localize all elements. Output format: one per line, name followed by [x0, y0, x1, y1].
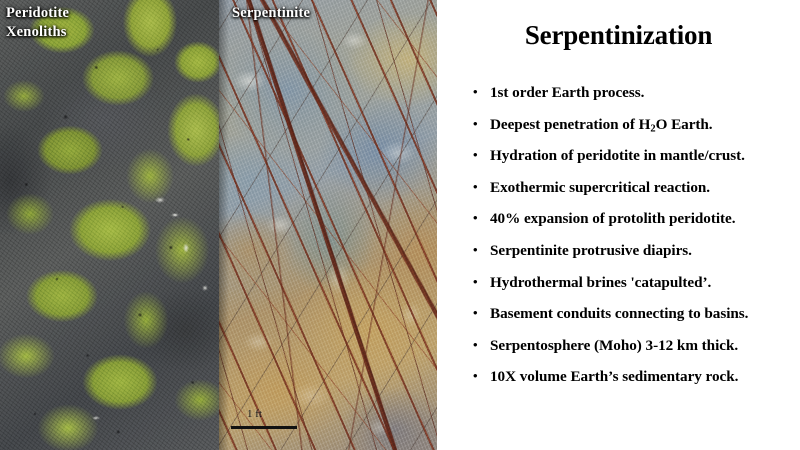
bullet-text: Hydrothermal brines 'catapulted’. — [490, 274, 711, 291]
bullet-text: 10X volume Earth’s sedimentary rock. — [490, 368, 738, 385]
bullet-text: Hydration of peridotite in mantle/crust. — [490, 147, 745, 164]
serpentinite-photo — [219, 0, 437, 450]
bullet-item: 1st order Earth process. — [473, 84, 800, 102]
slide-title: Serpentinization — [437, 18, 800, 52]
bullet-item: 10X volume Earth’s sedimentary rock. — [473, 368, 800, 386]
bullet-text: 1st order Earth process. — [490, 84, 644, 101]
bullet-item: Hydrothermal brines 'catapulted’. — [473, 274, 800, 292]
bullet-text-pre: Deepest penetration of H — [490, 116, 650, 133]
bullet-item: Exothermic supercritical reaction. — [473, 179, 800, 197]
bullet-text: Exothermic supercritical reaction. — [490, 179, 710, 196]
bullet-list: 1st order Earth process.Deepest penetrat… — [473, 84, 800, 400]
peridotite-grain-texture — [0, 0, 219, 450]
bullet-item: Deepest penetration of H2O Earth. — [473, 116, 800, 134]
peridotite-xenoliths-photo — [0, 0, 219, 450]
serpentinite-edge-shadow — [219, 0, 437, 450]
content-panel: Serpentinization 1st order Earth process… — [437, 0, 800, 450]
scale-bar-line — [231, 426, 297, 429]
bullet-text: Serpentinite protrusive diapirs. — [490, 242, 692, 259]
bullet-item: Hydration of peridotite in mantle/crust. — [473, 147, 800, 165]
bullet-text: Basement conduits connecting to basins. — [490, 305, 748, 322]
bullet-item: Serpentinite protrusive diapirs. — [473, 242, 800, 260]
serpentinite-photo-label: Serpentinite — [232, 4, 310, 23]
bullet-item: Serpentosphere (Moho) 3-12 km thick. — [473, 337, 800, 355]
presentation-slide: Peridotite Xenoliths Serpentinite 1 ft S… — [0, 0, 800, 450]
bullet-item: Basement conduits connecting to basins. — [473, 305, 800, 323]
scale-bar-label: 1 ft — [247, 408, 262, 421]
bullet-text-post: O Earth. — [656, 116, 713, 133]
bullet-text: Serpentosphere (Moho) 3-12 km thick. — [490, 337, 738, 354]
peridotite-photo-label: Peridotite Xenoliths — [6, 4, 69, 42]
bullet-item: 40% expansion of protolith peridotite. — [473, 210, 800, 228]
bullet-text: 40% expansion of protolith peridotite. — [490, 210, 735, 227]
